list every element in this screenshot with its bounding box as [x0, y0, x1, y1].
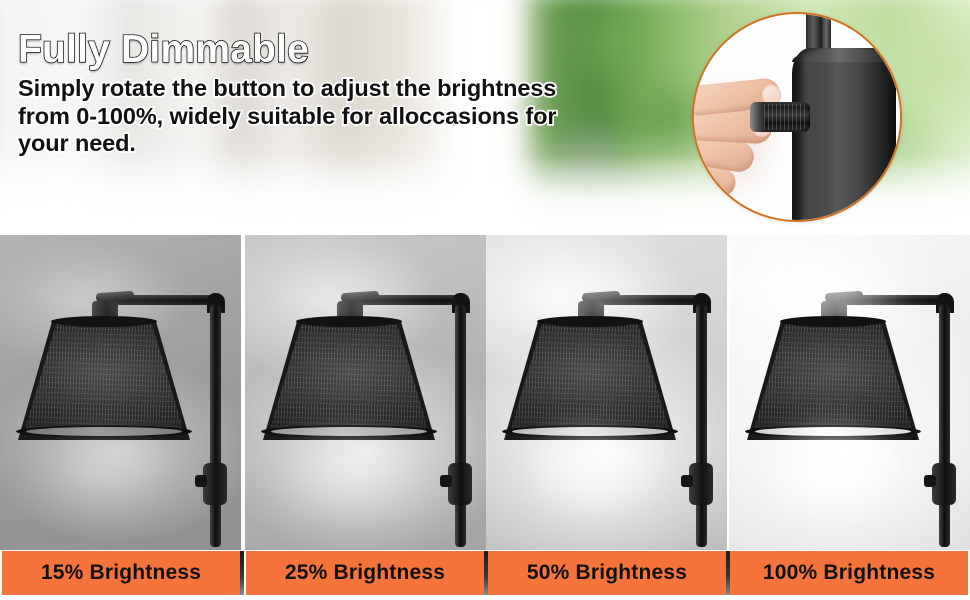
caption-divider: [240, 551, 244, 595]
lamp-switch-nub: [440, 475, 452, 487]
lamp-arm-vertical: [210, 305, 221, 547]
caption-label: 100% Brightness: [763, 561, 935, 585]
lamp-shade-rim-top: [537, 316, 643, 327]
lamp-body-highlight: [802, 52, 828, 220]
lamp-shade: [504, 320, 676, 440]
hero-subtitle: Simply rotate the button to adjust the b…: [18, 75, 678, 158]
lamp-switch-nub: [195, 475, 207, 487]
caption-bar-15: 15% Brightness: [2, 551, 240, 595]
brightness-panel-50: [486, 235, 727, 550]
lamp-shade: [263, 320, 435, 440]
caption-divider: [484, 551, 488, 595]
lamp-arm-vertical: [455, 305, 466, 547]
lamp-arm-vertical: [696, 305, 707, 547]
lamp-shade: [747, 320, 919, 440]
caption-label: 15% Brightness: [41, 561, 201, 585]
product-infographic: Fully Dimmable Simply rotate the button …: [0, 0, 970, 600]
downlight-glow: [273, 416, 425, 526]
caption-bar-strip: 15% Brightness 25% Brightness 50% Bright…: [0, 551, 970, 595]
caption-divider: [726, 551, 730, 595]
brightness-panel-15: [0, 235, 241, 550]
callout-photo: [694, 14, 900, 220]
hero-text-block: Fully Dimmable Simply rotate the button …: [18, 30, 678, 158]
lamp-switch-nub: [681, 475, 693, 487]
caption-bar-100: 100% Brightness: [730, 551, 968, 595]
hero-title: Fully Dimmable: [18, 30, 678, 69]
lamp-shade-rim-top: [780, 316, 886, 327]
caption-bar-50: 50% Brightness: [488, 551, 726, 595]
lamp-shade: [18, 320, 190, 440]
brightness-panel-100: [729, 235, 970, 550]
caption-label: 25% Brightness: [285, 561, 445, 585]
brightness-panel-25: [245, 235, 486, 550]
caption-bar-25: 25% Brightness: [246, 551, 484, 595]
lamp-arm-vertical: [939, 305, 950, 547]
downlight-glow: [514, 416, 666, 526]
dimmer-knob-cap: [750, 102, 764, 132]
hero-banner: Fully Dimmable Simply rotate the button …: [0, 0, 970, 235]
downlight-glow: [757, 416, 909, 526]
downlight-glow: [28, 416, 180, 526]
caption-label: 50% Brightness: [527, 561, 687, 585]
dimmer-knob-callout-circle: [692, 12, 902, 222]
lamp-switch-nub: [924, 475, 936, 487]
brightness-comparison-strip: [0, 235, 970, 600]
lamp-shade-rim-top: [296, 316, 402, 327]
lamp-shade-rim-top: [51, 316, 157, 327]
